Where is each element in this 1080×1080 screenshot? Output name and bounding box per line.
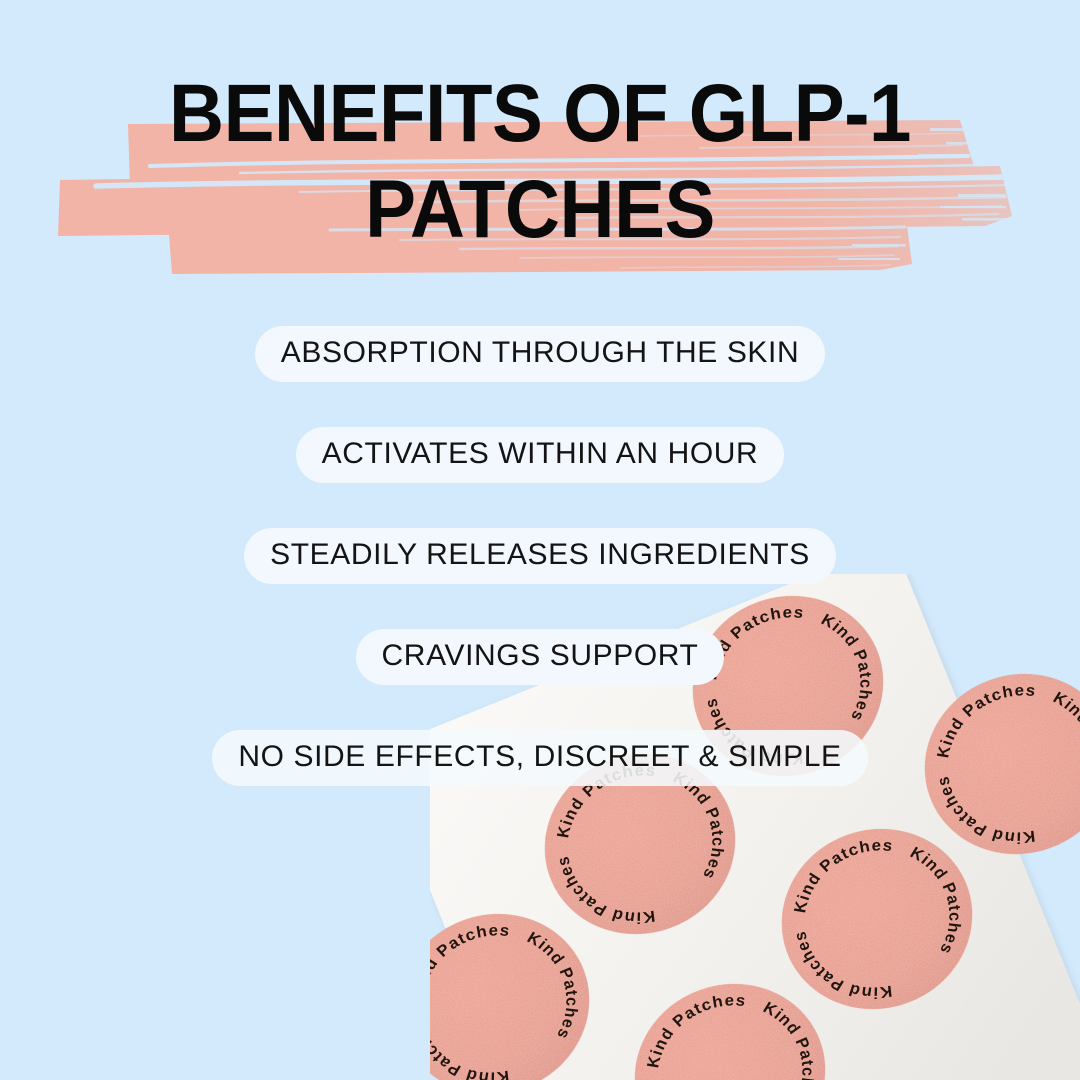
benefit-pill-absorption: ABSORPTION THROUGH THE SKIN (255, 326, 826, 382)
title-line-1: BENEFITS OF GLP-1 (38, 66, 1042, 162)
benefit-row-4: CRAVINGS SUPPORT (0, 629, 1080, 685)
benefit-row-3: STEADILY RELEASES INGREDIENTS (0, 528, 1080, 584)
benefit-row-1: ABSORPTION THROUGH THE SKIN (0, 326, 1080, 382)
page-title: BENEFITS OF GLP-1 PATCHES (0, 66, 1080, 258)
title-line-2: PATCHES (38, 162, 1042, 258)
benefit-pill-cravings: CRAVINGS SUPPORT (356, 629, 725, 685)
benefit-row-5: NO SIDE EFFECTS, DISCREET & SIMPLE (0, 730, 1080, 786)
benefit-pill-releases: STEADILY RELEASES INGREDIENTS (244, 528, 836, 584)
benefit-row-2: ACTIVATES WITHIN AN HOUR (0, 427, 1080, 483)
benefits-list: ABSORPTION THROUGH THE SKIN ACTIVATES WI… (0, 326, 1080, 831)
benefit-pill-activates: ACTIVATES WITHIN AN HOUR (296, 427, 785, 483)
benefit-pill-no-side-effects: NO SIDE EFFECTS, DISCREET & SIMPLE (212, 730, 867, 786)
poster-canvas: BENEFITS OF GLP-1 PATCHES (0, 0, 1080, 1080)
